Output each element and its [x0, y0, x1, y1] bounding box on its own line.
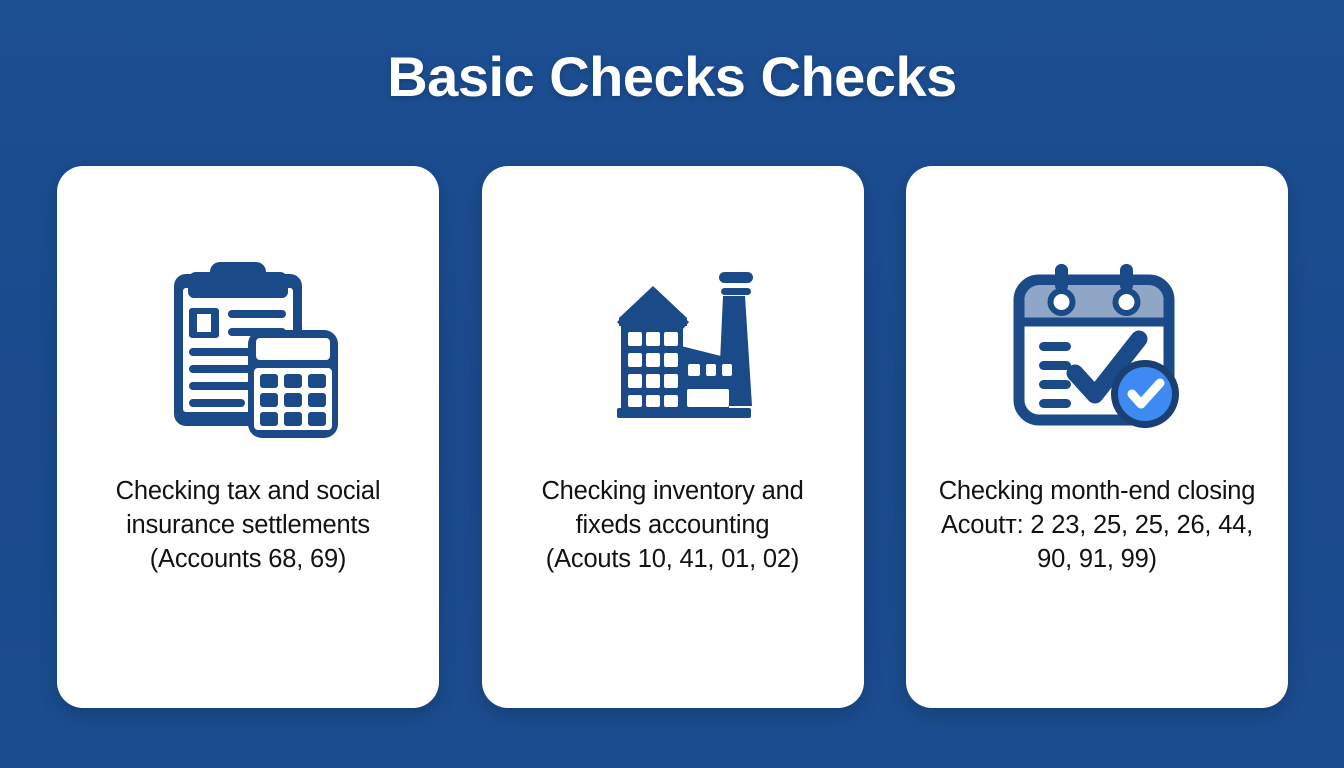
card-inventory-fixed-assets[interactable]: Checking inventory and fixeds accounting…	[482, 166, 864, 708]
card-description: Checking tax and social insurance settle…	[116, 477, 381, 539]
card-text-block: Checking tax and social insurance settle…	[83, 474, 413, 576]
factory-building-icon	[573, 238, 773, 450]
card-description: Checking inventory and fixeds accounting	[541, 477, 803, 539]
calendar-check-icon	[997, 238, 1197, 450]
card-text-block: Checking inventory and fixeds accounting…	[508, 474, 838, 576]
card-text-block: Checking month-end closing Acoutт: 2 23,…	[932, 474, 1262, 576]
card-grid: Checking tax and social insurance settle…	[57, 166, 1288, 708]
card-accounts: Acoutт: 2 23, 25, 25, 26, 44, 90, 91, 99…	[932, 508, 1262, 576]
slide-background: Basic Checks Checks	[0, 0, 1344, 768]
card-month-end-closing[interactable]: Checking month-end closing Acoutт: 2 23,…	[906, 166, 1288, 708]
card-description: Checking month-end closing	[939, 477, 1256, 505]
card-accounts: (Accounts 68, 69)	[83, 542, 413, 576]
page-title: Basic Checks Checks	[0, 46, 1344, 108]
card-accounts: (Acouts 10, 41, 01, 02)	[508, 542, 838, 576]
clipboard-calculator-icon	[148, 238, 348, 450]
card-tax-social-insurance[interactable]: Checking tax and social insurance settle…	[57, 166, 439, 708]
